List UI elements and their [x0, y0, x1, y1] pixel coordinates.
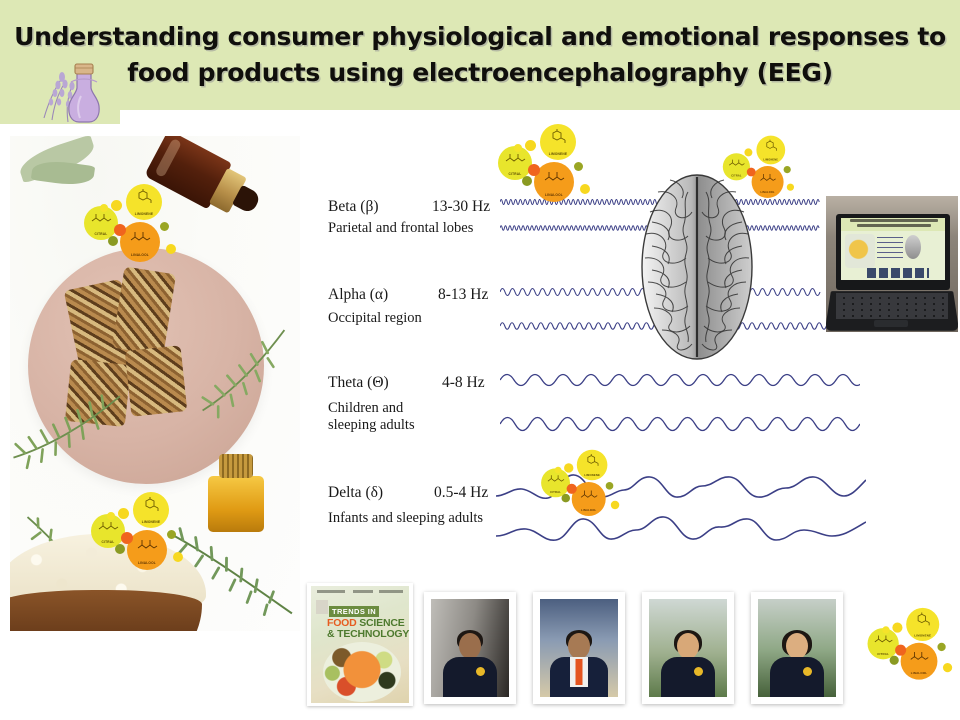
- molecule-linalool: LINALOOL: [120, 222, 160, 262]
- molecule-dot: [747, 168, 756, 177]
- eeg-wave-theta-2: [500, 406, 860, 440]
- brain-illustration: [636, 172, 758, 362]
- eeg-wave-theta-1: [500, 364, 860, 394]
- molecule-dot: [606, 482, 614, 490]
- molecule-dot: [522, 176, 532, 186]
- eeg-band-name: Delta (δ): [328, 484, 383, 502]
- molecule-dot: [784, 166, 791, 173]
- molecule-dot: [108, 236, 118, 246]
- molecule-dot: [555, 467, 562, 474]
- laptop-trackpad: [874, 320, 908, 327]
- molecule-dot: [564, 463, 573, 472]
- molecule-cluster: LIMONENE CITRAL LINALOOL: [862, 606, 954, 676]
- molecule-dot: [121, 532, 133, 544]
- molecule-dot: [528, 164, 540, 176]
- presentation-slide: Understanding consumer physiological and…: [0, 0, 960, 720]
- portrait-photo-2: [533, 592, 625, 704]
- molecule-cluster: LIMONENE CITRAL LINALOOL: [718, 134, 787, 187]
- portrait-photo-4: [751, 592, 843, 704]
- molecule-dot: [580, 184, 590, 194]
- amber-oil-bottle-icon: [206, 454, 268, 532]
- molecule-dot: [943, 663, 952, 672]
- journal-line-3: & TECHNOLOGY: [327, 628, 409, 640]
- molecule-limonene: LIMONENE: [133, 492, 169, 528]
- molecule-cluster: LIMONENE CITRAL LINALOOL: [492, 122, 600, 204]
- laptop-screen: [841, 218, 945, 280]
- elsevier-logo: [316, 600, 328, 614]
- eeg-band-frequency: 0.5-4 Hz: [434, 484, 488, 502]
- eeg-band-region: Infants and sleeping adults: [328, 510, 483, 527]
- molecule-limonene: LIMONENE: [906, 608, 939, 641]
- eeg-band-name: Beta (β): [328, 198, 379, 216]
- eeg-band-frequency: 4-8 Hz: [442, 374, 485, 392]
- molecule-dot: [514, 144, 522, 152]
- molecule-linalool: LINALOOL: [534, 162, 574, 202]
- eeg-band-region: Parietal and frontal lobes: [328, 220, 473, 237]
- eeg-band-name: Alpha (α): [328, 286, 388, 304]
- molecule-limonene: LIMONENE: [540, 124, 576, 160]
- journal-cover-thumbnail: TRENDS IN FOOD SCIENCE & TECHNOLOGY: [307, 583, 413, 706]
- eeg-band-region-line1: Children and: [328, 400, 403, 417]
- molecule-dot: [882, 626, 889, 633]
- molecule-dot: [937, 643, 945, 651]
- molecule-dot: [567, 484, 577, 494]
- molecule-limonene: LIMONENE: [126, 184, 162, 220]
- molecule-dot: [611, 501, 620, 510]
- molecule-dot: [107, 512, 115, 520]
- portrait-photo-1: [424, 592, 516, 704]
- molecule-dot: [574, 162, 583, 171]
- granola-piece: [125, 345, 188, 416]
- eeg-band-frequency: 8-13 Hz: [438, 286, 488, 304]
- molecule-dot: [160, 222, 169, 231]
- molecule-dot: [892, 623, 902, 633]
- laptop-keyboard: [836, 293, 948, 319]
- molecule-linalool: LINALOOL: [572, 482, 606, 516]
- molecule-linalool: LINALOOL: [752, 166, 784, 198]
- laptop-presentation-photo: [826, 196, 958, 332]
- journal-cover-art: [323, 642, 401, 702]
- molecule-dot: [118, 508, 129, 519]
- molecule-dot: [115, 544, 125, 554]
- molecule-cluster: LIMONENE CITRAL LINALOOL: [536, 448, 628, 518]
- molecule-dot: [744, 148, 752, 156]
- molecule-dot: [890, 656, 899, 665]
- portrait-photo-3: [642, 592, 734, 704]
- molecule-dot: [111, 200, 122, 211]
- journal-line-1: TRENDS IN: [329, 606, 379, 617]
- molecule-linalool: LINALOOL: [127, 530, 167, 570]
- molecule-limonene: LIMONENE: [756, 136, 785, 165]
- eeg-band-region: Occipital region: [328, 310, 422, 327]
- eeg-band-region-line2: sleeping adults: [328, 417, 415, 434]
- molecule-dot: [166, 244, 176, 254]
- molecule-dot: [895, 645, 906, 656]
- molecule-dot: [173, 552, 183, 562]
- molecule-cluster: LIMONENE CITRAL LINALOOL: [78, 182, 186, 264]
- header-band: [0, 0, 960, 110]
- molecule-dot: [114, 224, 126, 236]
- eeg-band-frequency: 13-30 Hz: [432, 198, 490, 216]
- molecule-citral: CITRAL: [723, 153, 750, 180]
- molecule-cluster: LIMONENE CITRAL LINALOOL: [85, 490, 193, 572]
- molecule-dot: [100, 204, 108, 212]
- lavender-oil-bottle-icon: [38, 48, 112, 126]
- molecule-limonene: LIMONENE: [577, 450, 608, 481]
- molecule-linalool: LINALOOL: [901, 643, 938, 680]
- molecule-dot: [562, 494, 571, 503]
- molecule-dot: [525, 140, 536, 151]
- molecule-dot: [787, 184, 794, 191]
- molecule-dot: [167, 530, 176, 539]
- eeg-band-name: Theta (Θ): [328, 374, 389, 392]
